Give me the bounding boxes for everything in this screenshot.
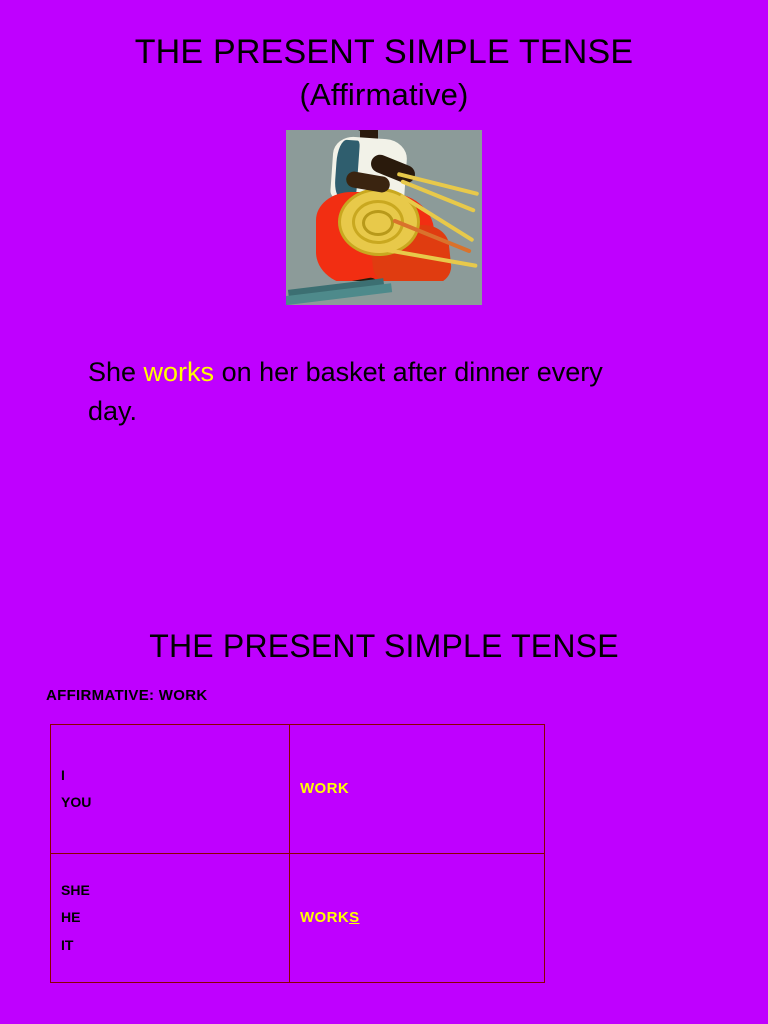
conjugation-table: I YOU WORK SHE HE IT WORKS [50, 724, 545, 983]
sentence-part-1: She [88, 357, 144, 387]
pronoun-cell-row2: SHE HE IT [51, 854, 290, 983]
example-sentence: She works on her basket after dinner eve… [88, 353, 628, 431]
verb-stem: WORK [300, 909, 349, 926]
verb-cell-row2: WORKS [290, 854, 545, 983]
verb-form-works: WORKS [300, 909, 360, 926]
table-row: I YOU WORK [51, 725, 545, 854]
pronoun-she: SHE [61, 877, 289, 904]
table-row: SHE HE IT WORKS [51, 854, 545, 983]
basket-center-ring [362, 210, 394, 236]
slide1-title-block: THE PRESENT SIMPLE TENSE (Affirmative) [0, 0, 768, 116]
affirmative-label: AFFIRMATIVE: WORK [46, 687, 768, 704]
verb-form-work: WORK [300, 780, 349, 797]
illustration-wrapper [0, 130, 768, 305]
verb-cell-row1: WORK [290, 725, 545, 854]
slide1-title-line-1: THE PRESENT SIMPLE TENSE [0, 30, 768, 75]
basket-weaver-illustration [286, 130, 482, 305]
slide1-title-line-2: (Affirmative) [0, 75, 768, 116]
slide2-title: THE PRESENT SIMPLE TENSE [0, 600, 768, 665]
sentence-highlight-verb: works [144, 357, 215, 387]
pronoun-you: YOU [61, 789, 289, 816]
slide-present-simple-table: THE PRESENT SIMPLE TENSE AFFIRMATIVE: WO… [0, 600, 768, 1024]
pronoun-it: IT [61, 932, 289, 959]
pronoun-i: I [61, 762, 289, 789]
verb-suffix-s: S [349, 909, 359, 926]
pronoun-cell-row1: I YOU [51, 725, 290, 854]
slide-present-simple-affirmative: THE PRESENT SIMPLE TENSE (Affirmative) [0, 0, 768, 600]
pronoun-he: HE [61, 904, 289, 931]
